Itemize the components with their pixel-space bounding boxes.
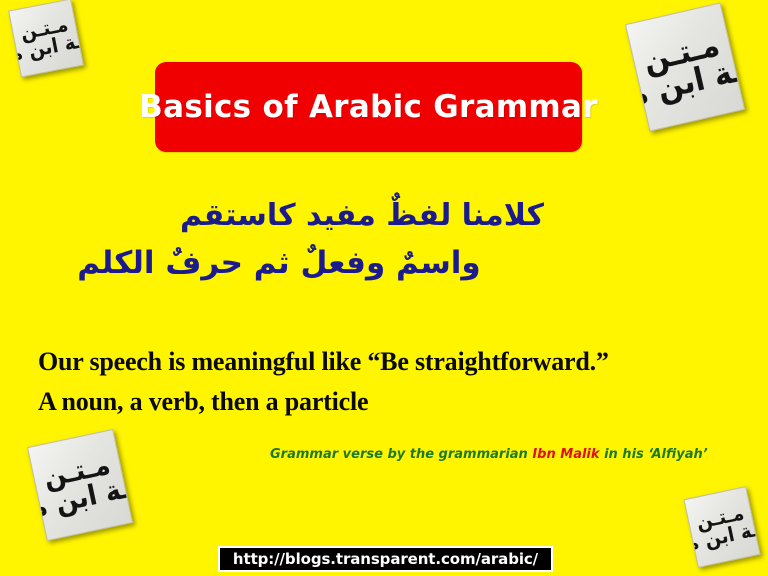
attribution-author: Ibn Malik bbox=[532, 447, 599, 462]
calligraphy-card-top-right: مـتـن الفيـة ابن مالك bbox=[625, 2, 745, 131]
attribution-line: Grammar verse by the grammarian Ibn Mali… bbox=[270, 447, 750, 462]
calligraphy-card-bottom-right: مـتـن الفيـة ابن مالك bbox=[683, 486, 760, 568]
url-text[interactable]: http://blogs.transparent.com/arabic/ bbox=[233, 550, 538, 568]
english-translation-line-1: Our speech is meaningful like “Be straig… bbox=[38, 342, 738, 382]
calligraphy-glyphs: مـتـن الفيـة ابن مالك bbox=[27, 439, 133, 531]
page-title: Basics of Arabic Grammar bbox=[139, 89, 598, 125]
title-banner: Basics of Arabic Grammar bbox=[155, 62, 582, 152]
arabic-verse-block: كلامنا لفظٌ مفيد كاستقم واسمٌ وفعلٌ ثم ح… bbox=[0, 196, 768, 284]
arabic-verse-line-2: واسمٌ وفعلٌ ثم حرفٌ الكلم bbox=[0, 243, 768, 285]
slide-canvas: مـتـن الفيـة ابن مالك مـتـن الفيـة ابن م… bbox=[0, 0, 768, 576]
url-bar[interactable]: http://blogs.transparent.com/arabic/ bbox=[218, 546, 553, 572]
calligraphy-card-bottom-left: مـتـن الفيـة ابن مالك bbox=[27, 429, 133, 541]
calligraphy-glyphs: مـتـن الفيـة ابن مالك bbox=[683, 494, 760, 560]
attribution-prefix: Grammar verse by the grammarian bbox=[270, 447, 532, 462]
english-translation-block: Our speech is meaningful like “Be straig… bbox=[38, 342, 738, 423]
attribution-suffix: in his ‘Alfiyah’ bbox=[600, 447, 708, 462]
calligraphy-card-top-left: مـتـن الفيـة ابن مالك bbox=[8, 0, 84, 77]
calligraphy-glyphs: مـتـن الفيـة ابن مالك bbox=[8, 6, 84, 69]
calligraphy-glyphs: مـتـن الفيـة ابن مالك bbox=[625, 13, 745, 121]
arabic-verse-line-1: كلامنا لفظٌ مفيد كاستقم bbox=[0, 196, 768, 237]
english-translation-line-2: A noun, a verb, then a particle bbox=[38, 382, 738, 422]
